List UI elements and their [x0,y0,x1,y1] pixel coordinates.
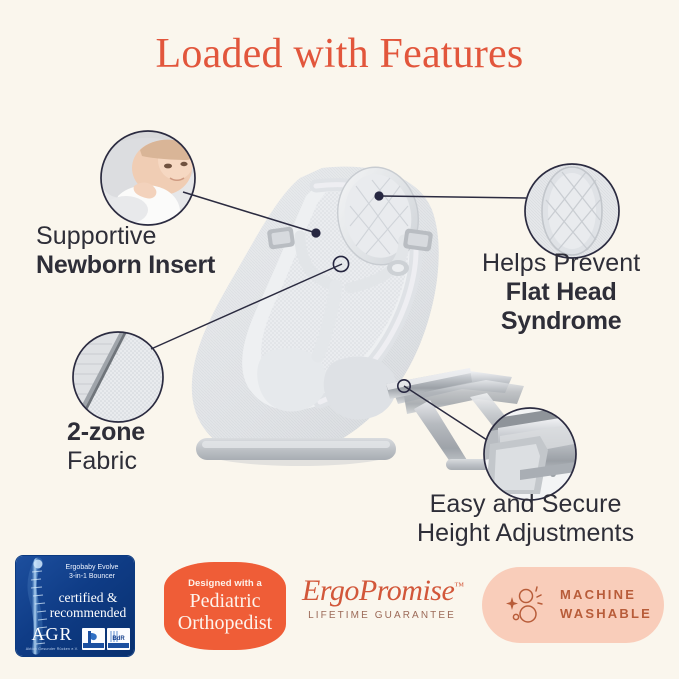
callout-flat-head [525,164,619,258]
feature-line-supportive: Supportive [36,222,215,251]
ergopromise-badge: ErgoPromise™ LIFETIME GUARANTEE [302,576,462,621]
agr-certified-badge: Ergobaby Evolve 3-in-1 Bouncer certified… [16,556,134,656]
feature-line-height-adjustments: Height Adjustments [417,519,634,548]
feature-line-helps-prevent: Helps Prevent [482,249,640,278]
certification-badge-row: Ergobaby Evolve 3-in-1 Bouncer certified… [0,552,679,664]
callout-height-adjustment [484,408,576,500]
trademark-symbol: ™ [454,581,463,592]
feature-line-syndrome: Syndrome [482,307,640,336]
ergopromise-wordmark: ErgoPromise™ [302,576,462,606]
bdr-logo: BdR [107,628,130,650]
feature-line-flat-head: Flat Head [482,278,640,307]
agr-product-name: Ergobaby Evolve 3-in-1 Bouncer [54,563,130,582]
ergopromise-subtitle: LIFETIME GUARANTEE [302,610,462,621]
bdr-logo-bar [108,643,129,648]
machine-washable-badge: MACHINE WASHABLE [482,567,664,643]
feature-label-height-adjustment: Easy and Secure Height Adjustments [417,490,634,548]
feature-line-newborn-insert: Newborn Insert [36,251,215,280]
feature-label-two-zone-fabric: 2-zone Fabric [67,418,145,476]
machine-washable-text: MACHINE WASHABLE [560,586,652,624]
forum-logo-bar [83,643,104,648]
feature-label-flat-head: Helps Prevent Flat Head Syndrome [482,249,640,336]
forum-gesunder-ruecken-logo [82,628,105,650]
feature-line-fabric: Fabric [67,447,145,476]
feature-label-newborn-insert: Supportive Newborn Insert [36,222,215,280]
feature-line-easy-and-secure: Easy and Secure [417,490,634,519]
infographic-canvas: Loaded with Features [0,0,679,679]
agr-certified-text: certified & recommended [46,590,130,620]
agr-acronym-logo: AGR Aktion Gesunder Rücken e.V. [22,625,82,651]
callout-two-zone-fabric [73,332,163,422]
pediatric-orthopedist-text: Pediatric Orthopedist [164,591,286,633]
pediatric-orthopedist-badge: Designed with a Pediatric Orthopedist [164,562,286,650]
bubbles-sparkle-icon [504,583,550,627]
callout-newborn-insert [92,131,208,230]
feature-line-two-zone: 2-zone [67,418,145,447]
